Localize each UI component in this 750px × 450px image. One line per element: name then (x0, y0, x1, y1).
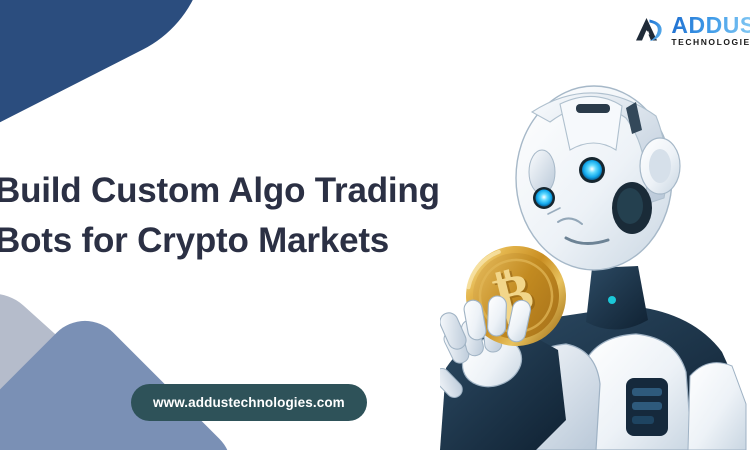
decoration-navy-shape (0, 0, 245, 147)
robot-neck (586, 266, 648, 330)
brand-logo[interactable]: ADDUS TECHNOLOGIES (636, 14, 750, 47)
page-title: Build Custom Algo Trading Bots for Crypt… (0, 166, 495, 265)
logo-name: ADDUS (671, 14, 750, 37)
robot-hand (440, 315, 566, 450)
svg-text:₿: ₿ (488, 261, 539, 330)
logo-subtitle: TECHNOLOGIES (671, 38, 750, 47)
website-url-badge[interactable]: www.addustechnologies.com (131, 384, 367, 421)
robot-eye-left (536, 190, 553, 207)
headline-line-1: Build Custom Algo Trading (0, 166, 495, 216)
robot-fingers-front (440, 296, 532, 352)
logo-wordmark: ADDUS TECHNOLOGIES (671, 14, 750, 47)
mountain-swoosh-icon (636, 15, 666, 45)
headline-line-2: Bots for Crypto Markets (0, 216, 495, 266)
promo-banner: ₿ ₿ ADD (0, 0, 750, 450)
robot-head (516, 86, 680, 270)
svg-text:₿: ₿ (491, 262, 542, 331)
robot-torso (480, 306, 746, 450)
robot-eye-right (582, 160, 602, 180)
